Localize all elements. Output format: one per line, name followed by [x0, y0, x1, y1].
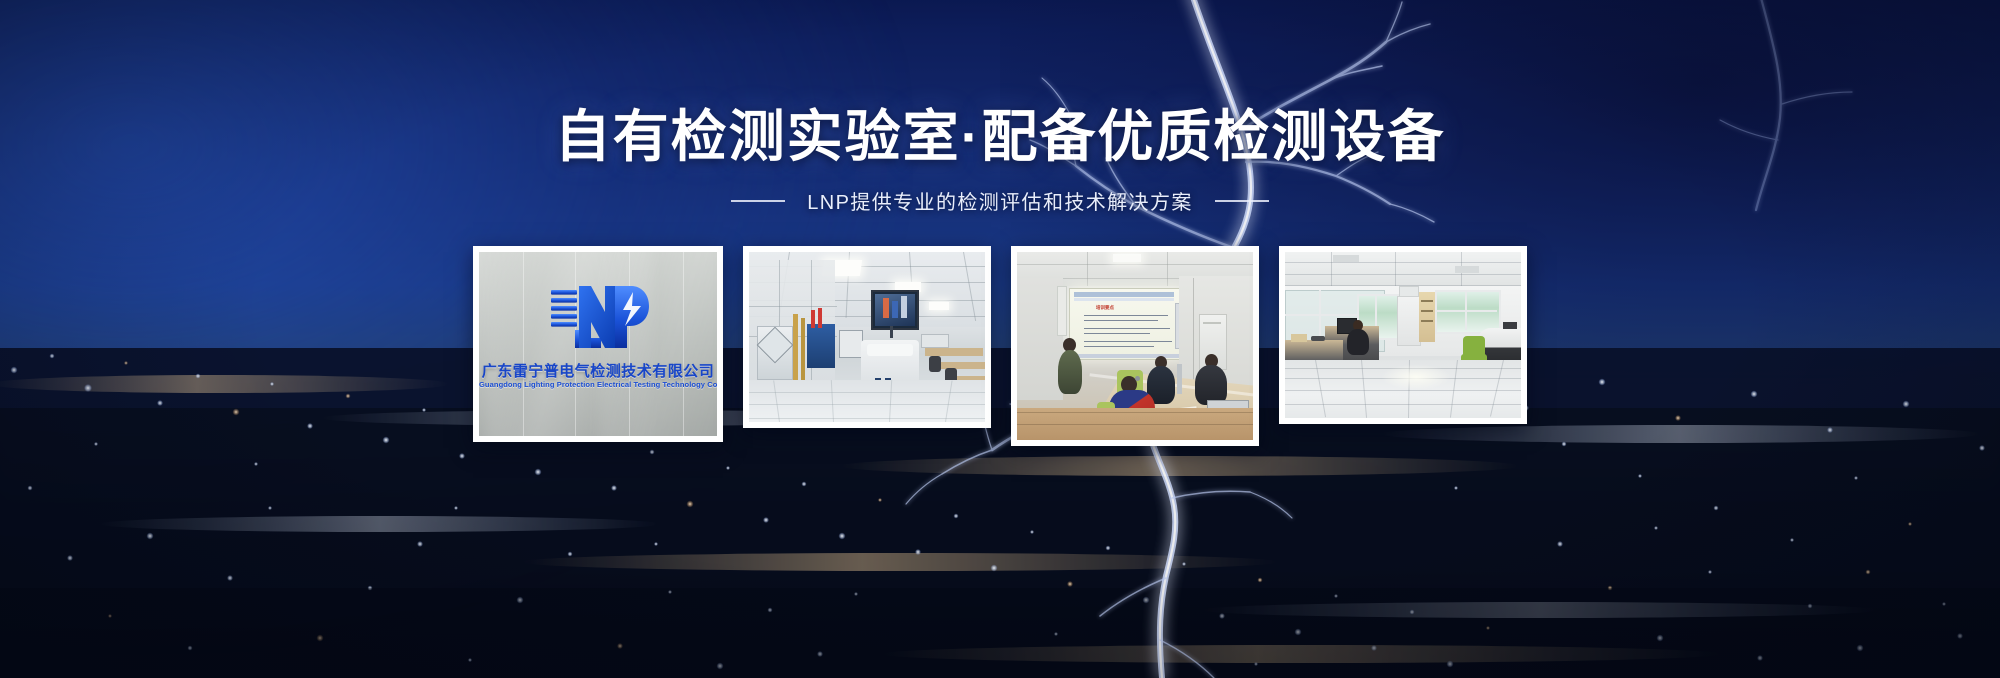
- hero-banner: 自有检测实验室·配备优质检测设备 LNP提供专业的检测评估和技术解决方案: [0, 0, 2000, 678]
- person-body: [1195, 365, 1227, 405]
- gallery-photo-office[interactable]: [1279, 246, 1527, 424]
- projection-screen: 培训要点: [1069, 288, 1185, 360]
- person-body: [1058, 350, 1082, 394]
- ceiling-light: [929, 302, 949, 310]
- signage-company-name-en: Guangdong Lighting Protection Electrical…: [479, 380, 717, 389]
- photo-office-content: [1285, 252, 1521, 418]
- lnp-logo-icon: [545, 278, 651, 356]
- banner-subtitle: LNP提供专业的检测评估和技术解决方案: [807, 186, 1193, 215]
- photo-meeting-content: 培训要点: [1017, 252, 1253, 440]
- divider-rule-left: [731, 200, 785, 202]
- banner-text-block: 自有检测实验室·配备优质检测设备 LNP提供专业的检测评估和技术解决方案: [0, 104, 2000, 215]
- wall-monitor: [871, 290, 919, 330]
- divider-rule-right: [1215, 200, 1269, 202]
- photo-signage-content: 广东雷宁普电气检测技术有限公司 Guangdong Lighting Prote…: [479, 252, 717, 436]
- signage-company-name-cn: 广东雷宁普电气检测技术有限公司: [479, 360, 717, 381]
- gallery-photo-laboratory[interactable]: [743, 246, 991, 428]
- person-body: [1347, 329, 1369, 355]
- photo-laboratory-content: [749, 252, 985, 422]
- photo-gallery: 广东雷宁普电气检测技术有限公司 Guangdong Lighting Prote…: [473, 246, 1527, 446]
- storage-cabinet: [1397, 296, 1421, 346]
- page-title: 自有检测实验室·配备优质检测设备: [0, 104, 2000, 170]
- gallery-photo-signage[interactable]: 广东雷宁普电气检测技术有限公司 Guangdong Lighting Prote…: [473, 246, 723, 442]
- gallery-photo-meeting[interactable]: 培训要点: [1011, 246, 1259, 446]
- banner-subtitle-row: LNP提供专业的检测评估和技术解决方案: [0, 186, 2000, 215]
